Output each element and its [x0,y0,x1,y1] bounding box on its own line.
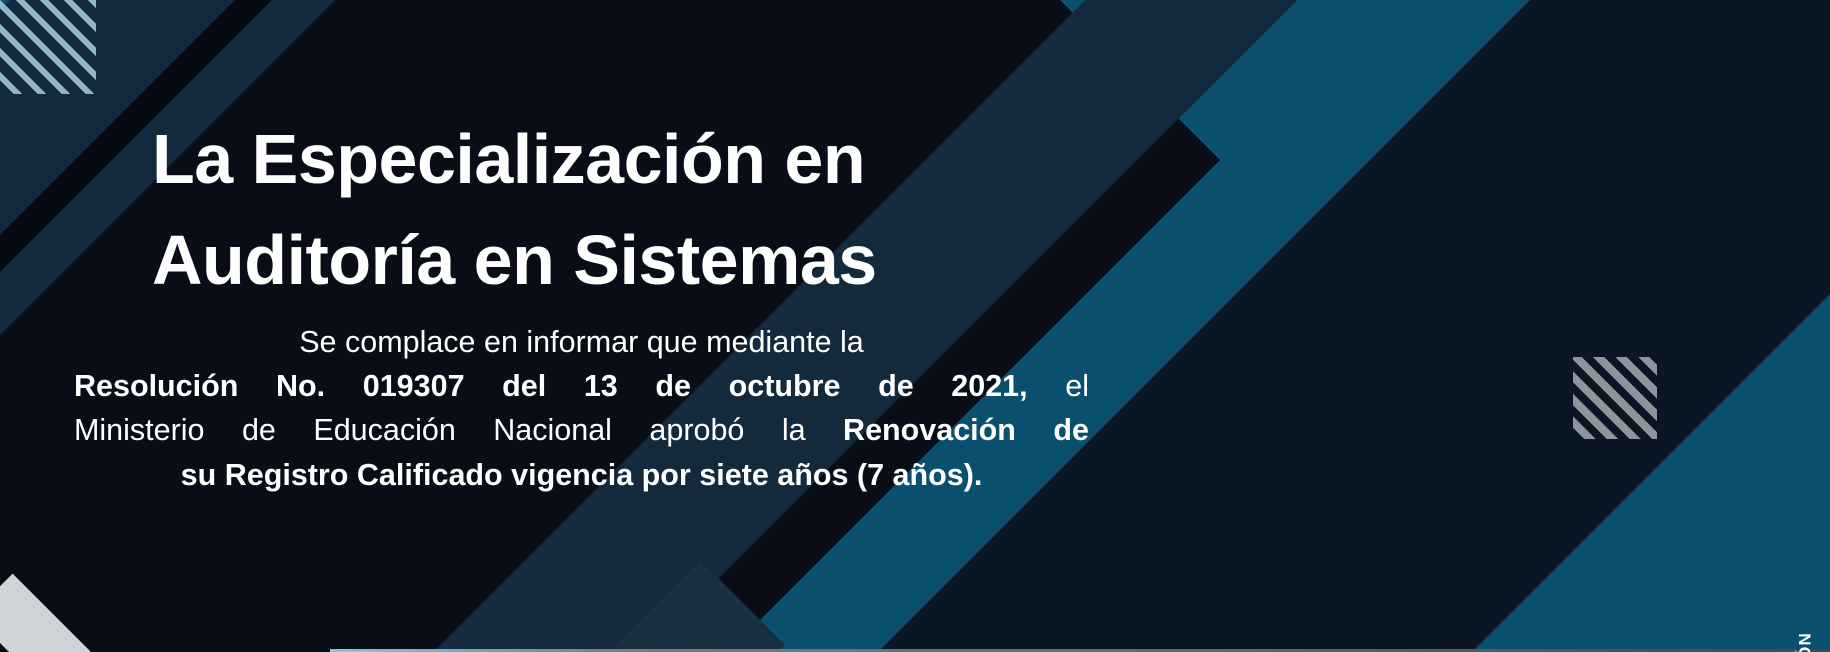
accreditation-banner: La Especialización en Auditoría en Siste… [0,0,1830,652]
body-line-1: Se complace en informar que mediante la [74,320,1089,364]
body-line-2: Resolución No. 019307 del 13 de octubre … [74,364,1089,408]
accreditation-label: VIGILADA MINEDUCACIÓN [1796,632,1816,652]
banner-title: La Especialización en Auditoría en Siste… [152,109,1132,312]
body-line-3-bold: Renovación de [843,413,1089,447]
banner-content: La Especialización en Auditoría en Siste… [0,0,1830,652]
accreditation-emphasis: MINEDUCACIÓN [1796,632,1815,652]
body-line-2-bold: Resolución No. 019307 del 13 de octubre … [74,369,1028,403]
body-line-4: su Registro Calificado vigencia por siet… [74,453,1089,497]
body-line-3: Ministerio de Educación Nacional aprobó … [74,408,1089,452]
body-line-3-regular: Ministerio de Educación Nacional aprobó … [74,413,806,447]
body-line-2-regular: el [1065,369,1089,403]
banner-body: Se complace en informar que mediante la … [74,320,1089,497]
